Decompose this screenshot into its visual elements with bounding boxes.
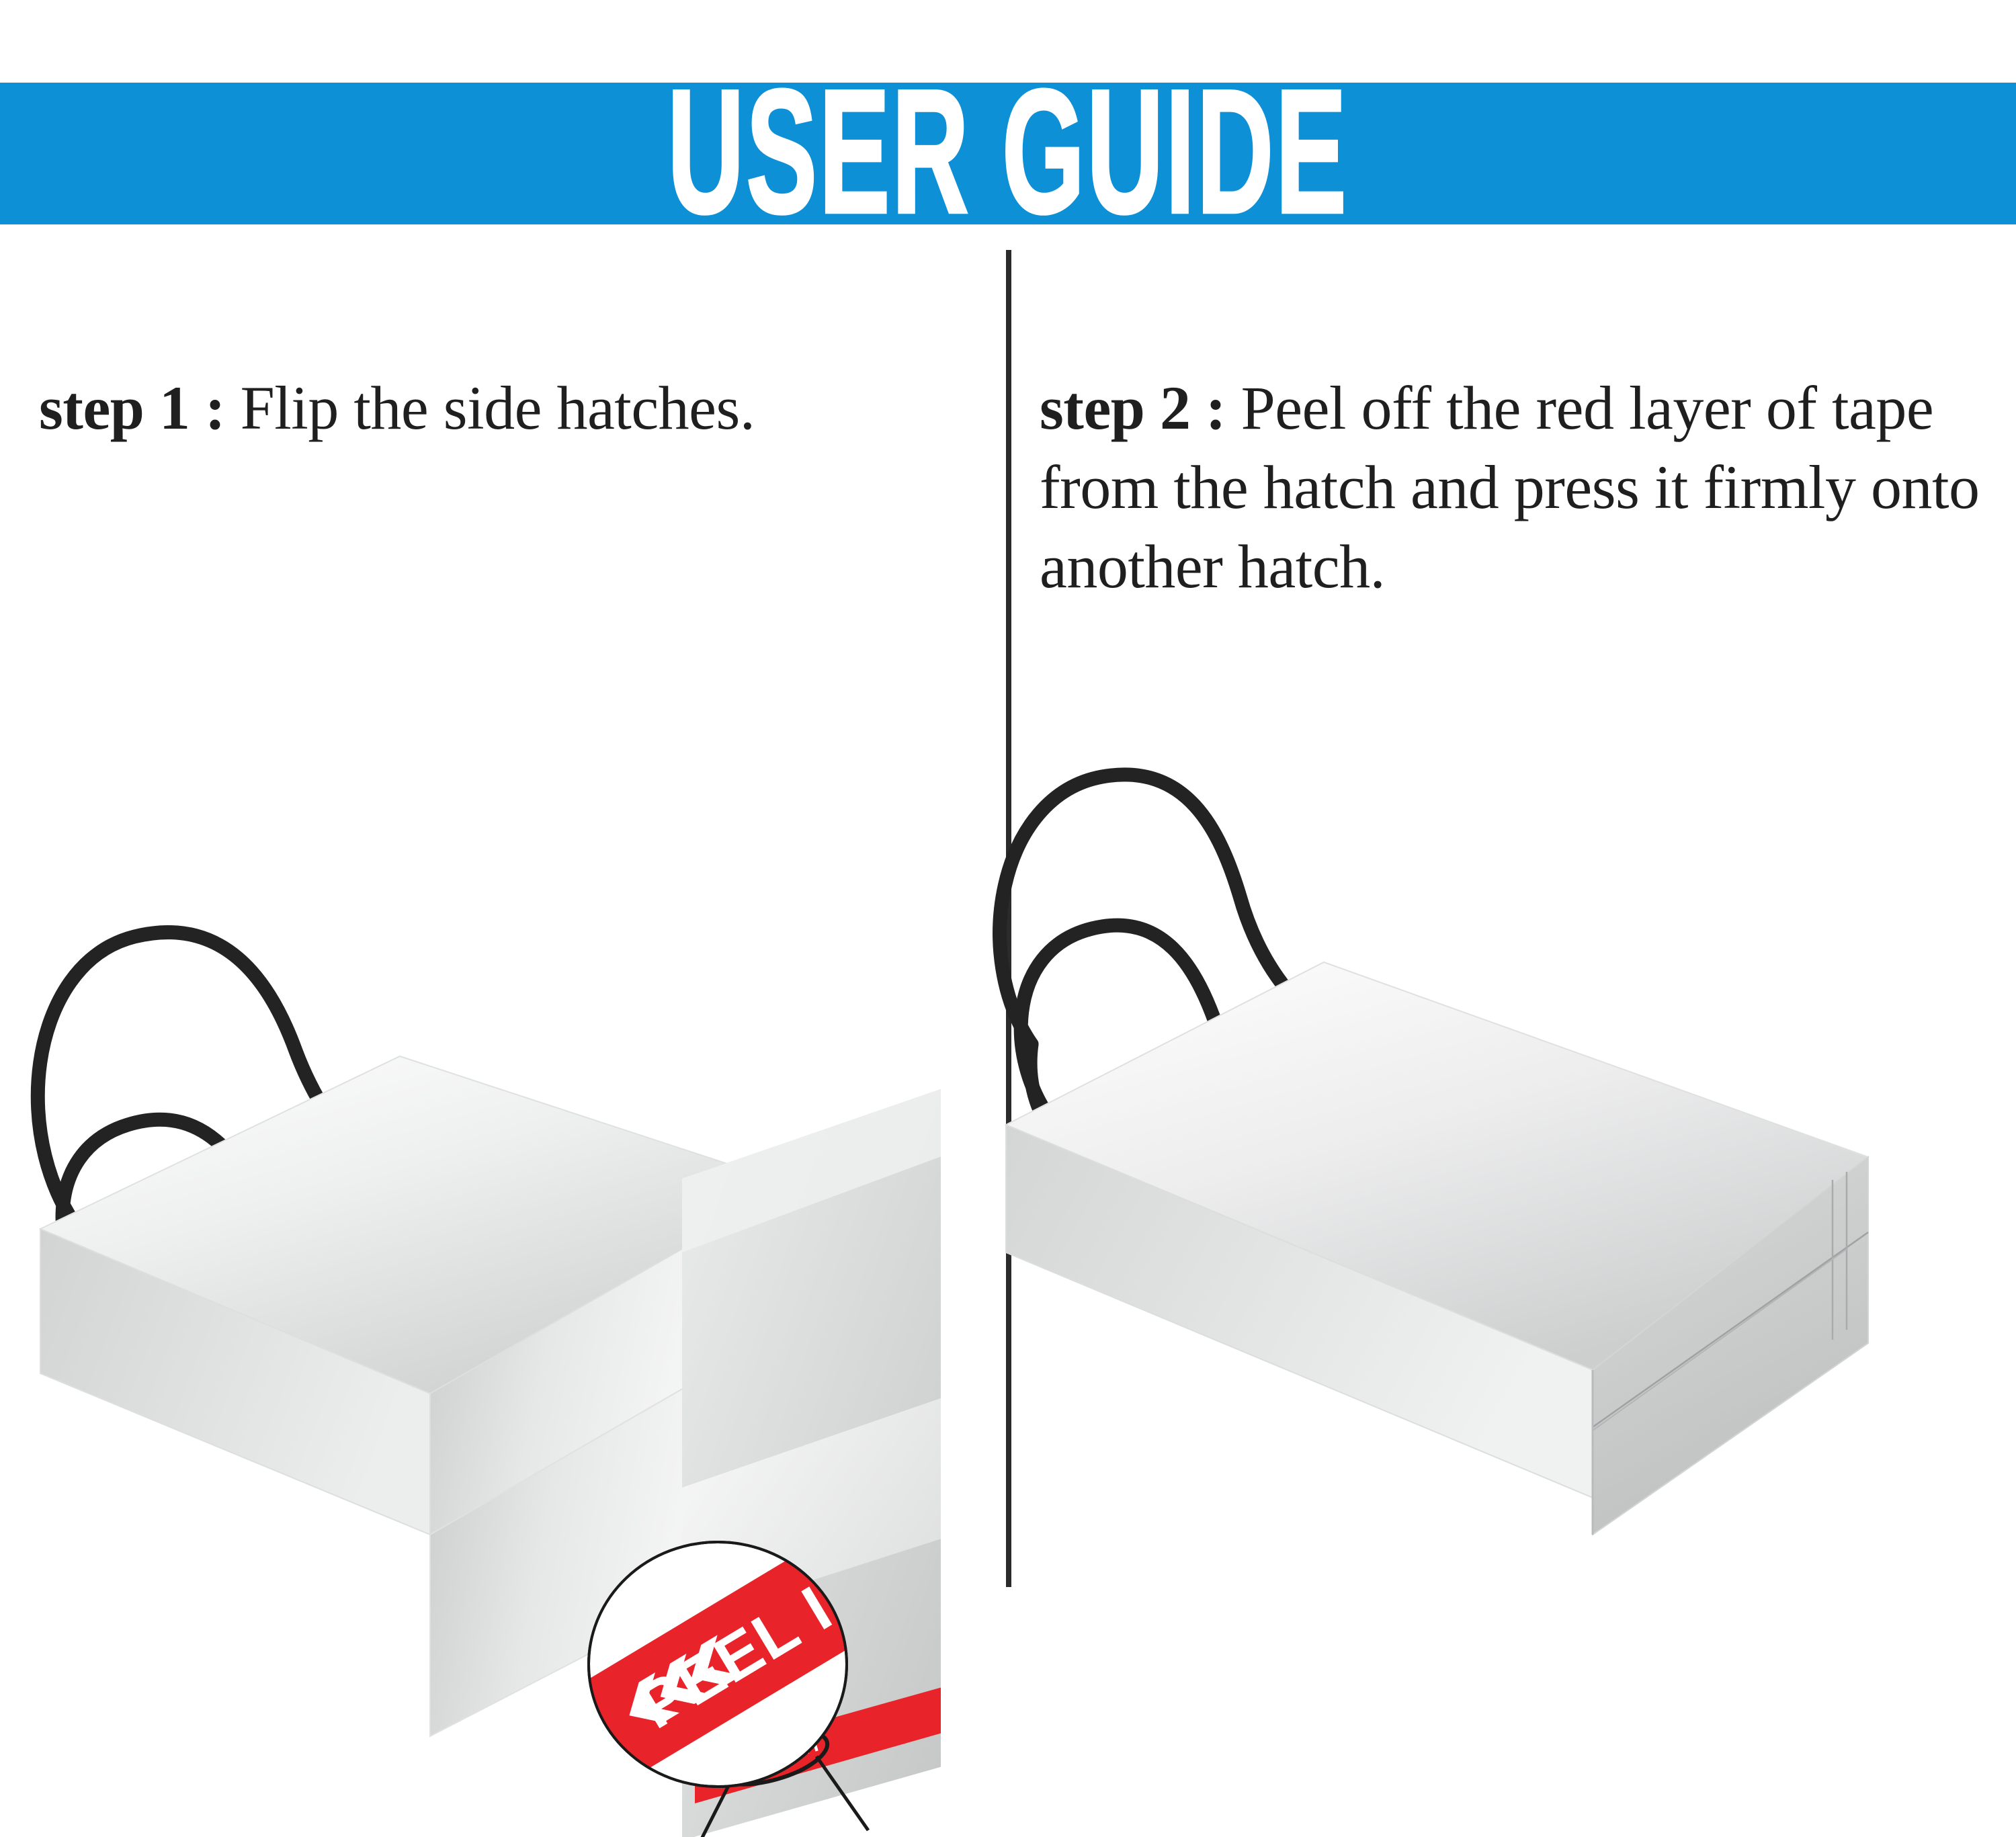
step-1-instruction: step 1 : Flip the side hatches. (39, 369, 913, 448)
step-1-body: Flip the side hatches. (225, 374, 755, 442)
peel-it-callout: PEEL IT (583, 1533, 852, 1802)
step-2-column: step 2 : Peel off the red layer of tape … (1011, 224, 2016, 1613)
step-2-instruction: step 2 : Peel off the red layer of tape … (1040, 369, 1994, 606)
step-1-column: step 1 : Flip the side hatches. (0, 224, 1006, 1613)
step-2-illustration (984, 735, 1959, 1541)
page-title: USER GUIDE (667, 83, 1348, 224)
step-1-label: step 1 : (39, 374, 225, 442)
header-banner: USER GUIDE (0, 83, 2016, 224)
step-2-label: step 2 : (1040, 374, 1226, 442)
